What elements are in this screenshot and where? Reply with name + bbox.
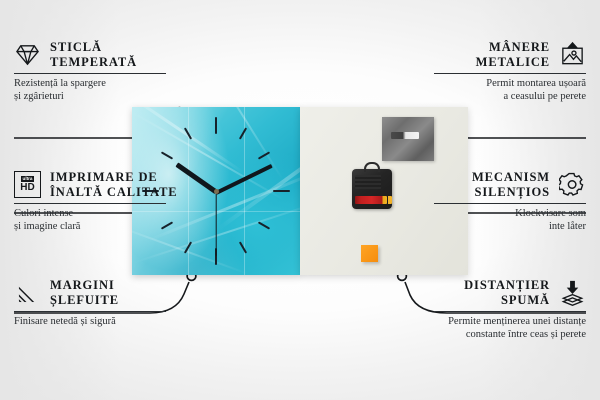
clock-hour-hand — [175, 163, 217, 194]
feature-divider — [14, 203, 166, 204]
hanging-picture-frame-icon — [559, 41, 586, 68]
feature-divider — [434, 73, 586, 74]
clock-center-hub — [214, 189, 219, 194]
feature-high-quality-print: ultra HD IMPRIMARE DE ÎNALTĂ CALITATE Cu… — [14, 170, 166, 233]
clock-second-hand — [215, 192, 216, 256]
feature-silent-mechanism: MECANISM SILENȚIOS Klockvisare som inte … — [434, 170, 586, 233]
foam-spacer-pad — [361, 245, 378, 262]
feature-polished-edges: MARGINI ȘLEFUITE Finisare netedă și sigu… — [14, 278, 166, 329]
feature-subtitle: Rezistență la spargere și zgârieturi — [14, 78, 166, 103]
feature-tempered-glass: STICLĂ TEMPERATĂ Rezistență la spargere … — [14, 40, 166, 103]
feature-subtitle: Klockvisare som inte låter — [434, 208, 586, 233]
stacked-arrow-down-icon — [559, 279, 586, 306]
ultra-hd-icon: ultra HD — [14, 171, 41, 198]
product-image — [132, 107, 468, 275]
feature-title: MECANISM SILENȚIOS — [472, 170, 550, 199]
feature-title: STICLĂ TEMPERATĂ — [50, 40, 137, 69]
feature-divider — [434, 203, 586, 204]
feature-subtitle: Permite menținerea unei distanțe constan… — [434, 316, 586, 341]
metal-hanger-plate — [382, 117, 434, 161]
feature-divider — [434, 311, 586, 312]
feature-divider — [14, 311, 166, 312]
mechanism-hanging-loop — [364, 162, 380, 172]
feature-divider — [14, 73, 166, 74]
feature-title: IMPRIMARE DE ÎNALTĂ CALITATE — [50, 170, 178, 199]
feature-subtitle: Culori intense și imagine clară — [14, 208, 166, 233]
feature-title: MÂNERE METALICE — [476, 40, 550, 69]
bevel-stripes-icon — [14, 279, 41, 306]
feature-title: MARGINI ȘLEFUITE — [50, 278, 119, 307]
hanger-slot — [391, 132, 419, 139]
gear-icon — [559, 171, 586, 198]
aa-battery — [355, 196, 387, 204]
feature-metal-handles: MÂNERE METALICE Permit montarea ușoară a… — [434, 40, 586, 103]
silent-quartz-mechanism — [352, 169, 392, 209]
battery-positive-tip — [388, 196, 392, 204]
feature-foam-spacer: DISTANȚIER SPUMĂ Permite menținerea unei… — [434, 278, 586, 341]
feature-subtitle: Permit montarea ușoară a ceasului pe per… — [434, 78, 586, 103]
diamond-icon — [14, 41, 41, 68]
feature-subtitle: Finisare netedă și sigură — [14, 316, 166, 329]
clock-minute-hand — [215, 163, 272, 193]
mechanism-body-detail — [355, 175, 381, 189]
feature-title: DISTANȚIER SPUMĂ — [464, 278, 550, 307]
